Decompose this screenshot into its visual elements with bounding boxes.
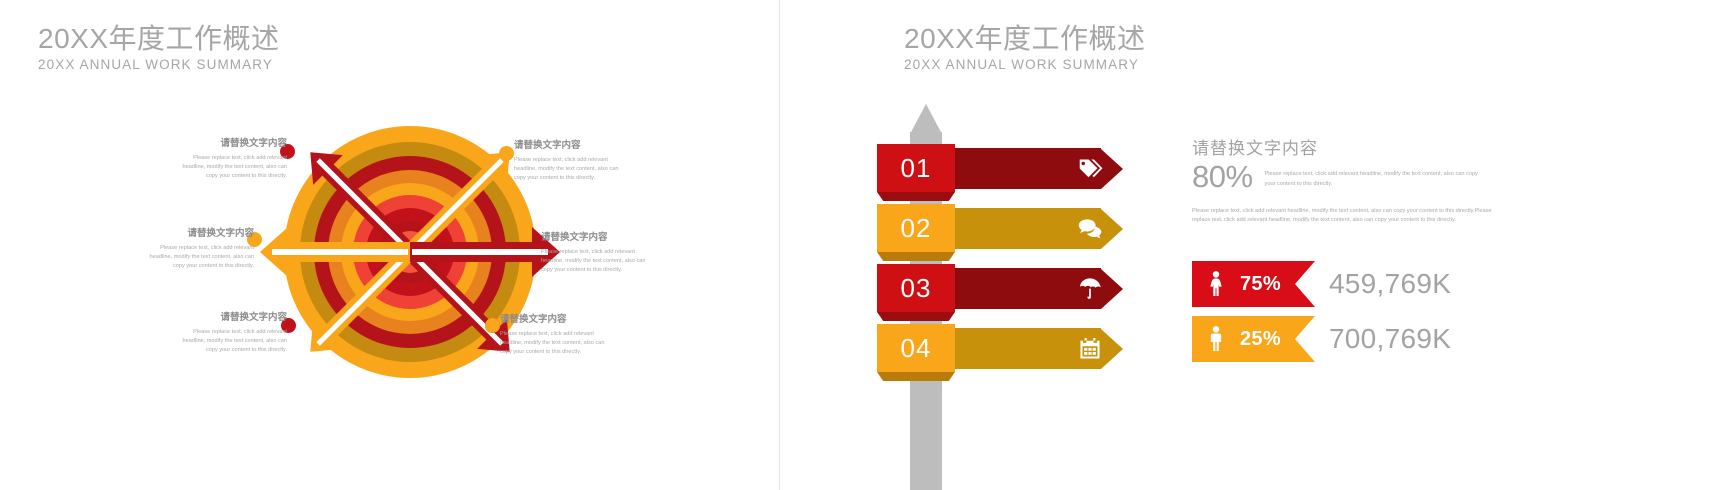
sign-number-03[interactable]: 03: [877, 264, 955, 312]
umbrella-icon: [1077, 276, 1103, 302]
stat-value-female: 459,769K: [1329, 268, 1451, 300]
sign-banner-04: [949, 328, 1123, 369]
summary-title: 请替换文字内容: [1192, 138, 1498, 159]
sign-number-01[interactable]: 01: [877, 144, 955, 192]
sign-banner-tip-03: [1101, 269, 1123, 309]
summary-paragraph: Please replace text, click add relevant …: [1192, 207, 1492, 226]
stat-row-female: 75% 459,769K: [1192, 261, 1451, 307]
target-label-6-body: Please replace text, click add relevant …: [500, 330, 612, 357]
female-icon: [1206, 270, 1226, 298]
stat-ribbon-male: 25%: [1192, 316, 1315, 362]
sign-numbox-shadow-02: [877, 252, 955, 261]
target-label-3-body: Please replace text, click add relevant …: [175, 328, 287, 355]
sign-number-04[interactable]: 04: [877, 324, 955, 372]
target-label-5-title: 请替换文字内容: [541, 232, 653, 244]
page-title-right: 20XX年度工作概述 20XX ANNUAL WORK SUMMARY: [904, 22, 1146, 72]
target-label-4-title: 请替换文字内容: [514, 140, 626, 152]
stat-ribbon-female: 75%: [1192, 261, 1315, 307]
target-label-2-body: Please replace text, click add relevant …: [142, 244, 254, 271]
target-arrows: [284, 126, 536, 378]
summary-percent-row: 80% Please replace text, click add relev…: [1192, 161, 1498, 193]
summary-text-block: 请替换文字内容 80% Please replace text, click a…: [1192, 138, 1498, 226]
target-label-3: 请替换文字内容 Please replace text, click add r…: [175, 312, 287, 355]
stat-percent-female: 75%: [1240, 273, 1281, 296]
target-label-1-body: Please replace text, click add relevant …: [175, 154, 287, 181]
slide-title-cn-right: 20XX年度工作概述: [904, 22, 1146, 55]
slide-subtitle-en-right: 20XX ANNUAL WORK SUMMARY: [904, 57, 1146, 72]
sign-banner-tip-02: [1101, 209, 1123, 249]
sign-banner-02: [949, 208, 1123, 249]
slide-divider: [779, 0, 780, 490]
bullet-dot-bottom-right: [485, 318, 500, 333]
sign-number-02[interactable]: 02: [877, 204, 955, 252]
radial-target-graphic: [284, 126, 536, 378]
stat-percent-male: 25%: [1240, 328, 1281, 351]
summary-percent-note: Please replace text, click add relevant …: [1265, 170, 1481, 189]
summary-percent: 80%: [1192, 161, 1253, 193]
signpost-cap: [910, 104, 942, 134]
sign-banner-tip-01: [1101, 149, 1123, 189]
target-label-1-title: 请替换文字内容: [175, 138, 287, 150]
slide-deck: 20XX年度工作概述 20XX ANNUAL WORK SUMMARY: [0, 0, 1720, 490]
sign-numbox-shadow-01: [877, 192, 955, 201]
target-label-5: 请替换文字内容 Please replace text, click add r…: [541, 232, 653, 275]
target-label-6-title: 请替换文字内容: [500, 314, 612, 326]
sign-numbox-shadow-04: [877, 372, 955, 381]
sign-numbox-shadow-03: [877, 312, 955, 321]
stat-row-male: 25% 700,769K: [1192, 316, 1451, 362]
target-label-2: 请替换文字内容 Please replace text, click add r…: [142, 228, 254, 271]
target-label-4: 请替换文字内容 Please replace text, click add r…: [514, 140, 626, 183]
male-icon: [1206, 325, 1226, 353]
target-label-1: 请替换文字内容 Please replace text, click add r…: [175, 138, 287, 181]
speech-bubbles-icon: [1077, 216, 1103, 242]
target-label-4-body: Please replace text, click add relevant …: [514, 156, 626, 183]
target-label-3-title: 请替换文字内容: [175, 312, 287, 324]
target-label-5-body: Please replace text, click add relevant …: [541, 248, 653, 275]
stat-value-male: 700,769K: [1329, 323, 1451, 355]
bullet-dot-top-right: [499, 146, 514, 161]
tag-icon: [1077, 156, 1103, 182]
slide-left: 20XX年度工作概述 20XX ANNUAL WORK SUMMARY: [0, 0, 860, 490]
sign-banner-tip-04: [1101, 329, 1123, 369]
target-label-2-title: 请替换文字内容: [142, 228, 254, 240]
calendar-icon: [1077, 336, 1103, 362]
sign-banner-01: [949, 148, 1123, 189]
sign-banner-03: [949, 268, 1123, 309]
target-label-6: 请替换文字内容 Please replace text, click add r…: [500, 314, 612, 357]
